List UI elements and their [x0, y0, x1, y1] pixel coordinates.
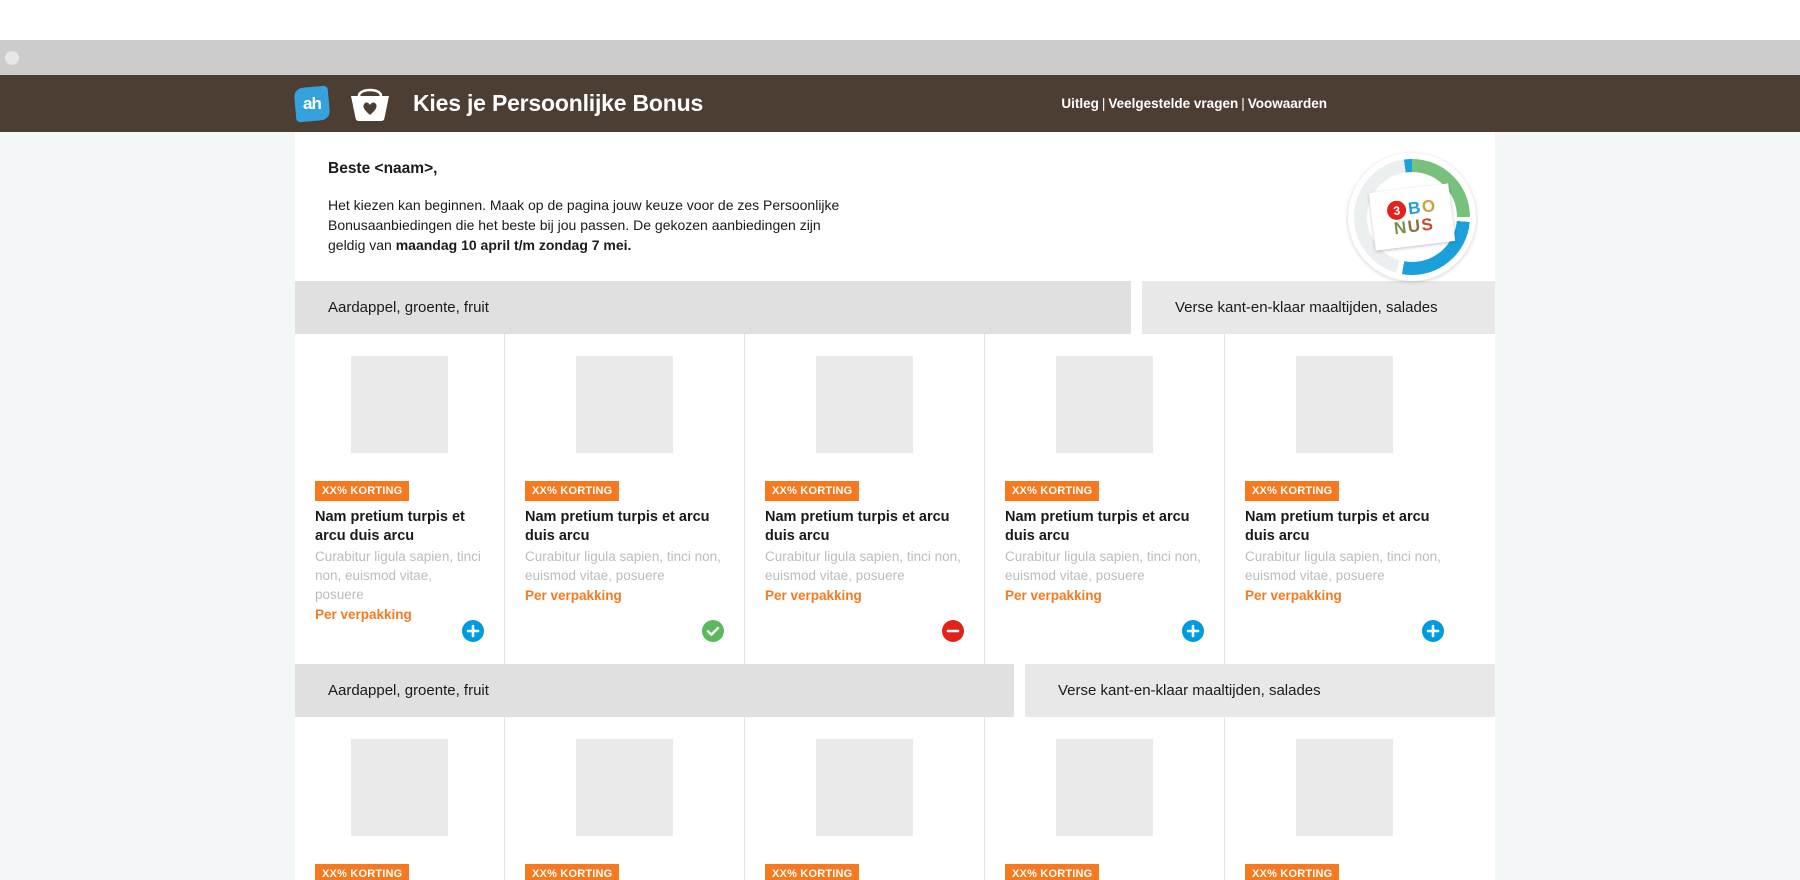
product-row-2: XX% KORTING Nam pretium turpis et arcu d… [295, 717, 1495, 880]
window-dot-icon [5, 51, 19, 65]
product-title: Nam pretium turpis et arcu duis arcu [765, 508, 964, 546]
add-product-button[interactable] [1422, 620, 1444, 642]
discount-badge: XX% KORTING [315, 864, 409, 880]
product-title: Nam pretium turpis et arcu duis arcu [1005, 508, 1204, 546]
header-nav-links: Uitleg|Veelgestelde vragen|Voowaarden [1061, 96, 1327, 111]
discount-badge: XX% KORTING [525, 481, 619, 501]
discount-badge: XX% KORTING [1005, 481, 1099, 501]
basket-heart-icon [349, 85, 391, 123]
intro-greeting: Beste <naam>, [328, 160, 1462, 178]
product-description: Curabitur ligula sapien, tinci non, euis… [1245, 547, 1444, 585]
site-header-inner: ah Kies je Persoonlijke Bonus Uitleg|Vee… [295, 75, 1495, 132]
nav-link-voowaarden[interactable]: Voowaarden [1248, 96, 1327, 111]
nav-link-uitleg[interactable]: Uitleg [1061, 96, 1099, 111]
discount-badge: XX% KORTING [1005, 864, 1099, 880]
site-header: ah Kies je Persoonlijke Bonus Uitleg|Vee… [0, 75, 1800, 132]
product-description: Curabitur ligula sapien, tinci non, euis… [315, 547, 484, 604]
bonus-letter-s: S [1420, 216, 1433, 234]
nav-separator-2: | [1238, 96, 1248, 111]
intro-body-dates: maandag 10 april t/m zondag 7 mei. [396, 237, 632, 253]
discount-badge: XX% KORTING [1245, 481, 1339, 501]
product-row-1: XX% KORTING Nam pretium turpis et arcu d… [295, 334, 1495, 664]
bonus-card-line-2: N U S [1393, 216, 1433, 238]
bonus-card: 3 B O N U S [1369, 183, 1455, 250]
product-card[interactable]: XX% KORTING Nam pretium turpis et arcu d… [295, 717, 504, 880]
add-product-button[interactable] [1182, 620, 1204, 642]
product-card[interactable]: XX% KORTING Nam pretium turpis et arcu d… [744, 334, 984, 664]
category-header-gap-1 [1131, 281, 1142, 334]
product-card[interactable]: XX% KORTING Nam pretium turpis et arcu d… [744, 717, 984, 880]
page-title: Kies je Persoonlijke Bonus [413, 90, 703, 117]
product-unit: Per verpakking [1005, 586, 1204, 605]
albert-heijn-logo[interactable]: ah [294, 85, 331, 122]
albert-heijn-logo-text: ah [303, 94, 321, 114]
main-container: Beste <naam>, Het kiezen kan beginnen. M… [295, 132, 1495, 880]
product-card[interactable]: XX% KORTING Nam pretium turpis et arcu d… [984, 334, 1224, 664]
product-image-placeholder [1056, 739, 1153, 836]
intro-block: Beste <naam>, Het kiezen kan beginnen. M… [295, 132, 1495, 281]
product-description: Curabitur ligula sapien, tinci non, euis… [525, 547, 724, 585]
product-card[interactable]: XX% KORTING Nam pretium turpis et arcu d… [504, 334, 744, 664]
bonus-letter-u: U [1407, 217, 1421, 235]
category-header-aardappel-groente-fruit: Aardappel, groente, fruit [295, 664, 1014, 717]
product-image-placeholder [576, 356, 673, 453]
product-image-placeholder [1296, 739, 1393, 836]
product-unit: Per verpakking [1245, 586, 1444, 605]
product-description: Curabitur ligula sapien, tinci non, euis… [765, 547, 964, 585]
category-header-verse-maaltijden: Verse kant-en-klaar maaltijden, salades [1142, 281, 1495, 334]
chosen-product-button[interactable] [702, 620, 724, 642]
product-description: Curabitur ligula sapien, tinci non, euis… [1005, 547, 1204, 585]
product-unit: Per verpakking [765, 586, 964, 605]
product-image-placeholder [816, 356, 913, 453]
product-card[interactable]: XX% KORTING Nam pretium turpis et arcu d… [504, 717, 744, 880]
product-card[interactable]: XX% KORTING Nam pretium turpis et arcu d… [984, 717, 1224, 880]
product-unit: Per verpakking [315, 605, 484, 624]
product-title: Nam pretium turpis et arcu duis arcu [315, 508, 484, 546]
product-image-placeholder [1056, 356, 1153, 453]
product-image-placeholder [816, 739, 913, 836]
bonus-letter-o: O [1421, 197, 1436, 215]
product-card[interactable]: XX% KORTING Nam pretium turpis et arcu d… [1224, 717, 1464, 880]
discount-badge: XX% KORTING [765, 481, 859, 501]
product-image-placeholder [576, 739, 673, 836]
product-title: Nam pretium turpis et arcu duis arcu [1245, 508, 1444, 546]
product-title: Nam pretium turpis et arcu duis arcu [525, 508, 724, 546]
bonus-letter-b: B [1407, 199, 1421, 217]
discount-badge: XX% KORTING [1245, 864, 1339, 880]
product-card[interactable]: XX% KORTING Nam pretium turpis et arcu d… [295, 334, 504, 664]
remove-product-button[interactable] [942, 620, 964, 642]
bonus-counter-badge[interactable]: 3 B O N U S [1348, 153, 1476, 281]
discount-badge: XX% KORTING [315, 481, 409, 501]
browser-toolbar [0, 40, 1800, 75]
category-header-row-2: Aardappel, groente, fruit Verse kant-en-… [295, 664, 1495, 717]
product-image-placeholder [1296, 356, 1393, 453]
category-header-row-1: Aardappel, groente, fruit Verse kant-en-… [295, 281, 1495, 334]
product-image-placeholder [351, 356, 448, 453]
intro-body: Het kiezen kan beginnen. Maak op de pagi… [328, 195, 848, 255]
discount-badge: XX% KORTING [765, 864, 859, 880]
browser-top-blank [0, 0, 1800, 40]
discount-badge: XX% KORTING [525, 864, 619, 880]
category-header-verse-maaltijden: Verse kant-en-klaar maaltijden, salades [1025, 664, 1495, 717]
product-image-placeholder [351, 739, 448, 836]
nav-separator-1: | [1099, 96, 1109, 111]
product-unit: Per verpakking [525, 586, 724, 605]
add-product-button[interactable] [462, 620, 484, 642]
nav-link-veelgestelde-vragen[interactable]: Veelgestelde vragen [1108, 96, 1238, 111]
product-card[interactable]: XX% KORTING Nam pretium turpis et arcu d… [1224, 334, 1464, 664]
category-header-gap-2 [1014, 664, 1025, 717]
category-header-aardappel-groente-fruit: Aardappel, groente, fruit [295, 281, 1131, 334]
page-canvas: ah Kies je Persoonlijke Bonus Uitleg|Vee… [0, 75, 1800, 880]
bonus-letter-n: N [1393, 219, 1407, 237]
